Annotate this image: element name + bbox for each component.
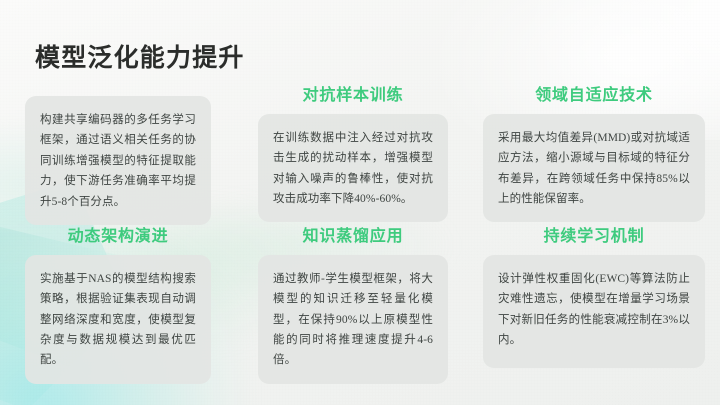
card-cell-5: 知识蒸馏应用 通过教师-学生模型框架，将大模型的知识迁移至轻量化模型，在保持90…: [258, 228, 448, 368]
card-grid: 构建共享编码器的多任务学习框架，通过语义相关任务的协同训练增强模型的特征提取能力…: [0, 0, 720, 405]
card-cell-2: 对抗样本训练 在训练数据中注入经过对抗攻击生成的扰动样本，增强模型对输入噪声的鲁…: [258, 87, 448, 217]
card-heading-6: 持续学习机制: [483, 228, 705, 246]
slide-canvas: 模型泛化能力提升 构建共享编码器的多任务学习框架，通过语义相关任务的协同训练增强…: [0, 0, 720, 405]
card-body-3: 采用最大均值差异(MMD)或对抗域适应方法，缩小源域与目标域的特征分布差异，在跨…: [498, 128, 690, 210]
card-heading-2: 对抗样本训练: [258, 87, 448, 105]
card-body-4: 实施基于NAS的模型结构搜索策略，根据验证集表现自动调整网络深度和宽度，使模型复…: [40, 269, 196, 371]
card-heading-4: 动态架构演进: [25, 228, 211, 246]
card-body-2: 在训练数据中注入经过对抗攻击生成的扰动样本，增强模型对输入噪声的鲁棒性，使对抗攻…: [273, 128, 433, 210]
card-heading-3: 领域自适应技术: [483, 87, 705, 105]
card-cell-4: 动态架构演进 实施基于NAS的模型结构搜索策略，根据验证集表现自动调整网络深度和…: [25, 228, 211, 368]
card-heading-5: 知识蒸馏应用: [258, 228, 448, 246]
card-cell-3: 领域自适应技术 采用最大均值差异(MMD)或对抗域适应方法，缩小源域与目标域的特…: [483, 87, 705, 217]
card-panel-5: 通过教师-学生模型框架，将大模型的知识迁移至轻量化模型，在保持90%以上原模型性…: [258, 255, 448, 384]
card-panel-2: 在训练数据中注入经过对抗攻击生成的扰动样本，增强模型对输入噪声的鲁棒性，使对抗攻…: [258, 114, 448, 223]
card-body-5: 通过教师-学生模型框架，将大模型的知识迁移至轻量化模型，在保持90%以上原模型性…: [273, 269, 433, 371]
card-panel-1: 构建共享编码器的多任务学习框架，通过语义相关任务的协同训练增强模型的特征提取能力…: [25, 96, 211, 225]
card-body-6: 设计弹性权重固化(EWC)等算法防止灾难性遗忘，使模型在增量学习场景下对新旧任务…: [498, 269, 690, 351]
card-panel-6: 设计弹性权重固化(EWC)等算法防止灾难性遗忘，使模型在增量学习场景下对新旧任务…: [483, 255, 705, 368]
card-body-1: 构建共享编码器的多任务学习框架，通过语义相关任务的协同训练增强模型的特征提取能力…: [40, 110, 196, 212]
card-panel-3: 采用最大均值差异(MMD)或对抗域适应方法，缩小源域与目标域的特征分布差异，在跨…: [483, 114, 705, 223]
card-cell-1: 构建共享编码器的多任务学习框架，通过语义相关任务的协同训练增强模型的特征提取能力…: [25, 87, 211, 217]
card-panel-4: 实施基于NAS的模型结构搜索策略，根据验证集表现自动调整网络深度和宽度，使模型复…: [25, 255, 211, 384]
card-cell-6: 持续学习机制 设计弹性权重固化(EWC)等算法防止灾难性遗忘，使模型在增量学习场…: [483, 228, 705, 368]
